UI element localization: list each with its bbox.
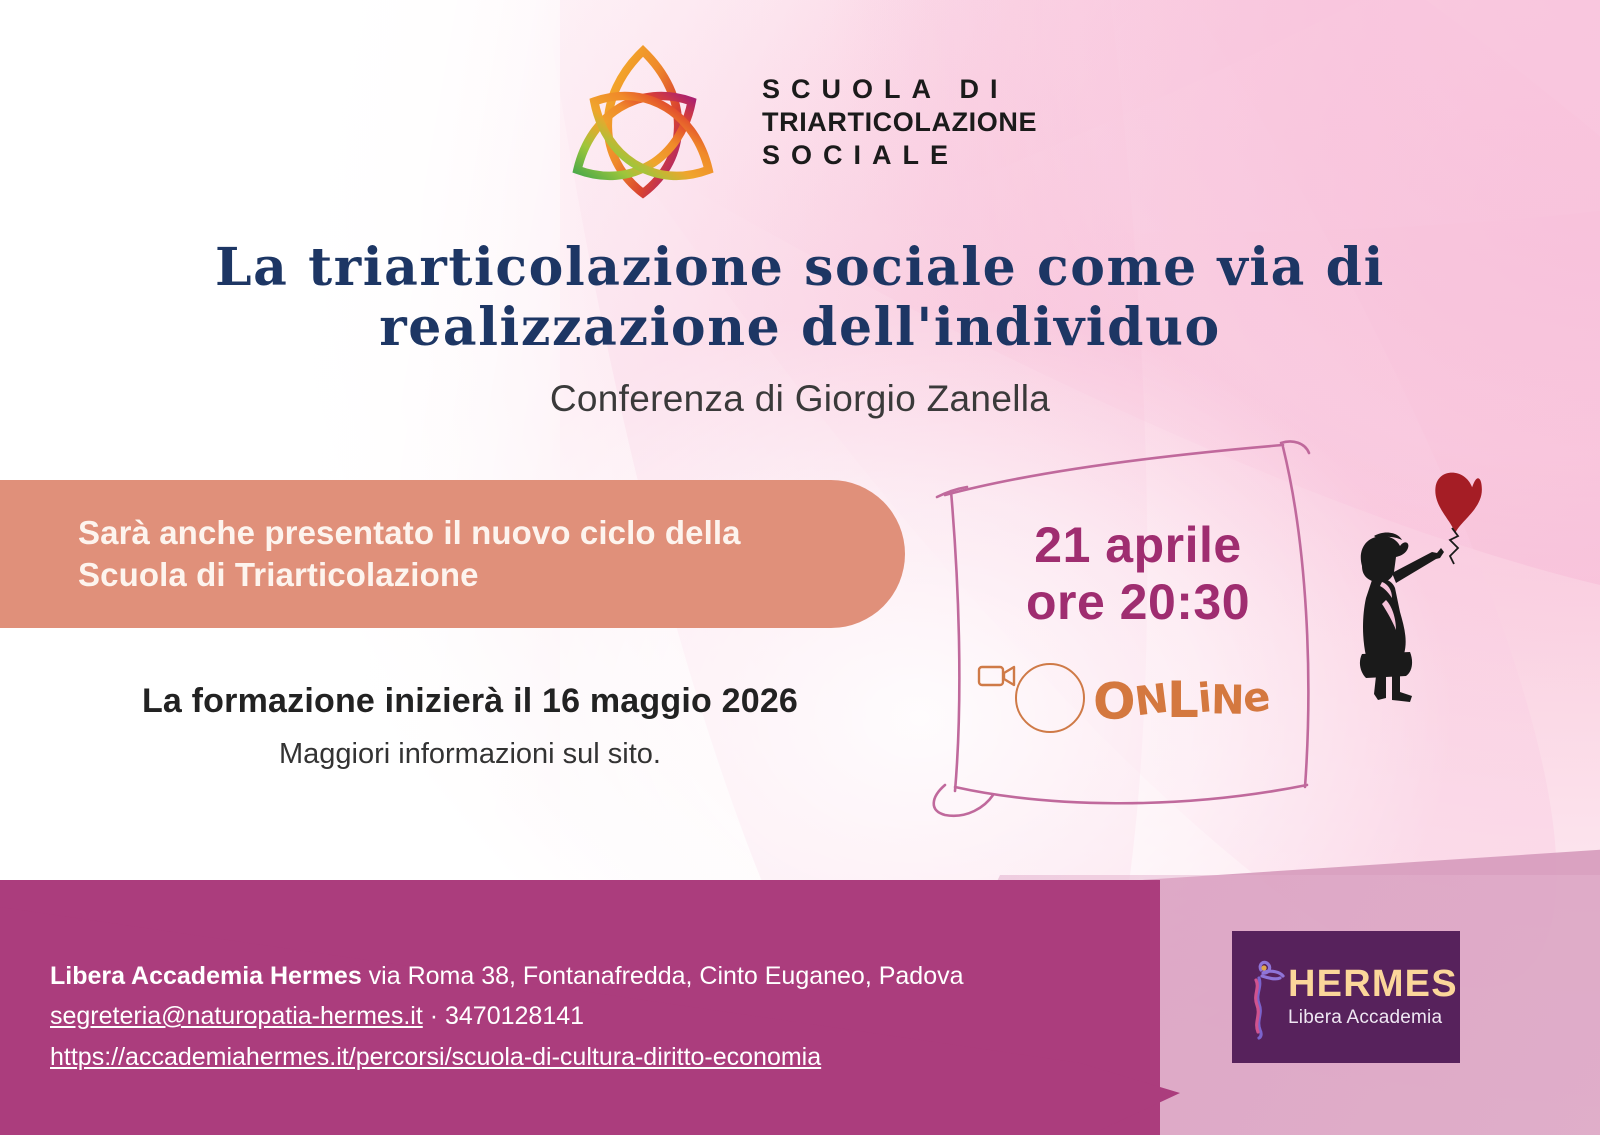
announcement-banner: Sarà anche presentato il nuovo ciclo del…	[0, 480, 905, 628]
online-letter-1: O	[1092, 672, 1135, 731]
footer-separator: ·	[423, 1002, 445, 1030]
event-date: 21 aprile	[973, 517, 1303, 574]
event-time: ore 20:30	[973, 574, 1303, 631]
event-datetime: 21 aprile ore 20:30	[973, 517, 1303, 631]
online-letter-5: N	[1210, 677, 1243, 724]
hermes-name: HERMES	[1288, 965, 1458, 1003]
online-letter-2: N	[1132, 676, 1170, 726]
footer-url-line: https://accademiahermes.it/percorsi/scuo…	[50, 1037, 1110, 1078]
footer-email-link[interactable]: segreteria@naturopatia-hermes.it	[50, 1002, 423, 1030]
training-headline: La formazione inizierà il 16 maggio 2026	[0, 682, 940, 721]
footer-contact: Libera Accademia Hermes via Roma 38, Fon…	[50, 956, 1110, 1078]
event-mode-row: ONLiNe	[977, 663, 1307, 733]
footer-org-name: Libera Accademia Hermes	[50, 962, 362, 990]
footer-address-line: Libera Accademia Hermes via Roma 38, Fon…	[50, 956, 1110, 997]
banner-line-2: Scuola di Triarticolazione	[78, 554, 741, 596]
training-note: Maggiori informazioni sul sito.	[0, 738, 940, 771]
page-title: La triarticolazione sociale come via di …	[60, 238, 1540, 359]
title-line-1: La triarticolazione sociale come via di	[60, 238, 1540, 298]
hermes-logo: HERMES Libera Accademia	[1232, 931, 1460, 1063]
girl-with-balloon-icon	[1300, 440, 1520, 710]
hermes-tagline: Libera Accademia	[1288, 1007, 1458, 1029]
triquetra-icon	[548, 34, 738, 212]
footer-address: via Roma 38, Fontanafredda, Cinto Eugane…	[362, 962, 964, 990]
event-date-block: 21 aprile ore 20:30 ONLiNe	[915, 435, 1345, 825]
event-mode-label: ONLiNe	[1091, 664, 1270, 731]
footer-email-line: segreteria@naturopatia-hermes.it · 34701…	[50, 996, 1110, 1037]
hermes-logo-text: HERMES Libera Accademia	[1288, 965, 1458, 1029]
school-logo-line3: SOCIALE	[762, 139, 1037, 172]
title-line-2: realizzazione dell'individuo	[60, 298, 1540, 358]
online-letter-3: L	[1167, 671, 1198, 729]
footer-phone: 3470128141	[445, 1002, 584, 1030]
school-logo-line1: SCUOLA DI	[762, 73, 1037, 106]
video-camera-icon	[1015, 663, 1085, 733]
school-logo: SCUOLA DI TRIARTICOLAZIONE SOCIALE	[548, 30, 1018, 215]
banner-line-1: Sarà anche presentato il nuovo ciclo del…	[78, 512, 741, 554]
footer-website-link[interactable]: https://accademiahermes.it/percorsi/scuo…	[50, 1043, 821, 1071]
poster-canvas: SCUOLA DI TRIARTICOLAZIONE SOCIALE La tr…	[0, 0, 1600, 1135]
page-subtitle: Conferenza di Giorgio Zanella	[60, 378, 1540, 420]
girl-silhouette	[1360, 533, 1444, 702]
caduceus-figure-icon	[1246, 954, 1286, 1040]
school-logo-text: SCUOLA DI TRIARTICOLAZIONE SOCIALE	[762, 73, 1037, 172]
online-letter-6: e	[1241, 674, 1272, 722]
school-logo-line2: TRIARTICOLAZIONE	[762, 106, 1037, 139]
announcement-banner-text: Sarà anche presentato il nuovo ciclo del…	[0, 512, 741, 596]
